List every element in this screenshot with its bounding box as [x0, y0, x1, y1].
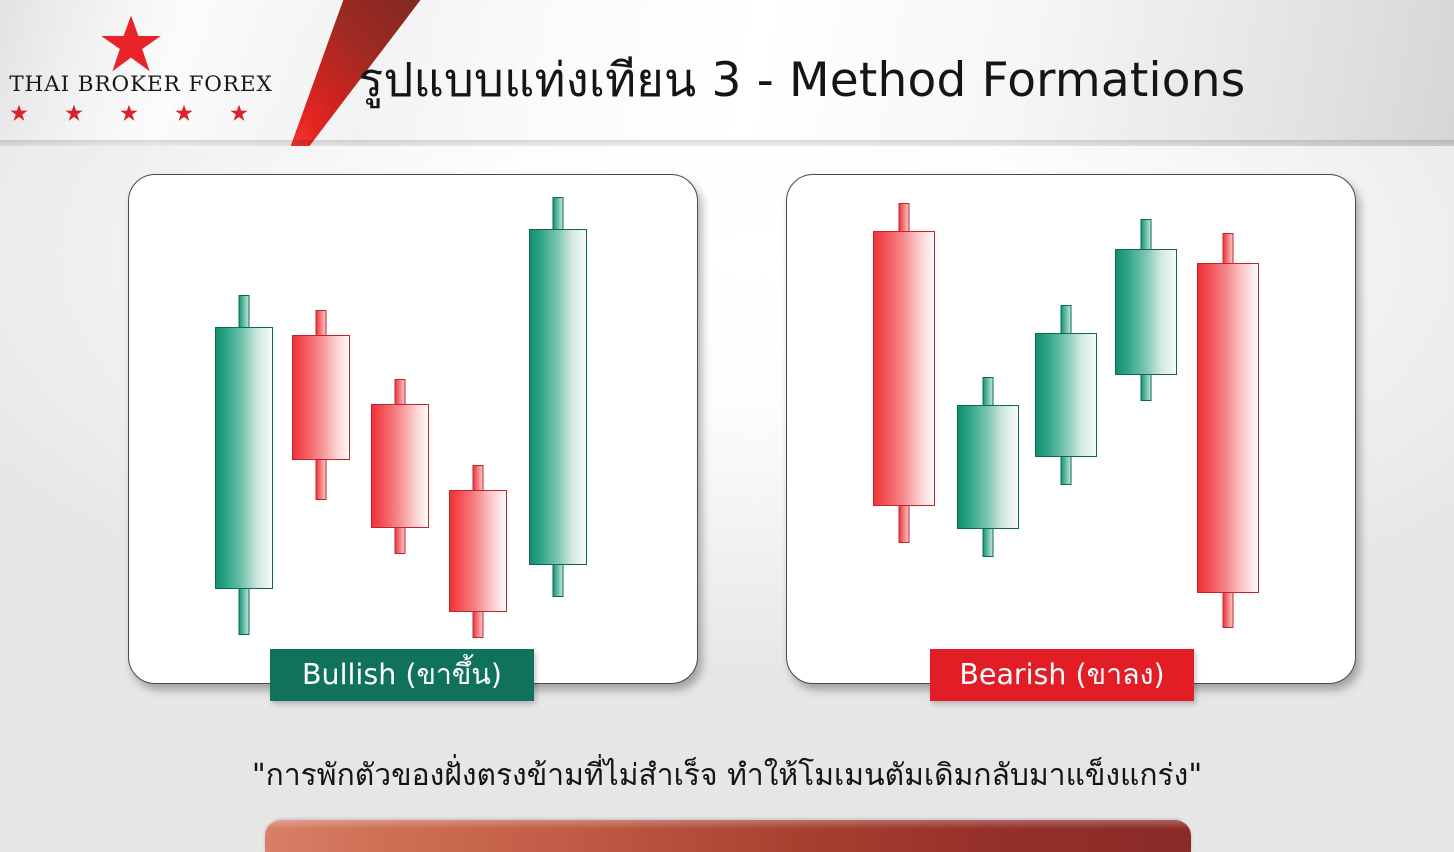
candle-body	[957, 405, 1019, 529]
candle-bear-4	[1115, 219, 1177, 401]
candle-bear-2	[957, 377, 1019, 557]
candle-body	[1115, 249, 1177, 375]
bottom-bar-gloss	[265, 820, 1191, 829]
page-title: รูปแบบแท่งเทียน 3 - Method Formations	[358, 56, 1438, 107]
candle-bull-1	[215, 295, 273, 635]
bottom-accent-bar	[265, 820, 1191, 852]
header-divider-shadow	[0, 140, 1454, 146]
candle-bull-3	[371, 379, 429, 554]
star-icon	[175, 104, 193, 122]
candle-body	[215, 327, 273, 589]
star-icon	[230, 104, 248, 122]
brand-star-row	[10, 104, 280, 122]
candle-bull-5	[529, 197, 587, 597]
candle-body	[371, 404, 429, 528]
candle-body	[529, 229, 587, 565]
bullish-badge: Bullish (ขาขึ้น)	[270, 649, 534, 701]
candle-bear-5	[1197, 233, 1259, 628]
candle-bear-1	[873, 203, 935, 543]
star-icon	[100, 14, 162, 74]
bullish-candlestick-chart	[129, 175, 697, 683]
slide-caption: "การพักตัวของฝั่งตรงข้ามที่ไม่สำเร็จ ทำใ…	[0, 752, 1454, 799]
slide-canvas: THAI BROKER FOREX	[0, 0, 1454, 852]
bearish-chart-panel	[786, 174, 1356, 684]
candle-bear-3	[1035, 305, 1097, 485]
candle-body	[1035, 333, 1097, 457]
star-icon	[10, 104, 28, 122]
bullish-chart-panel	[128, 174, 698, 684]
candle-body	[449, 490, 507, 612]
star-icon	[65, 104, 83, 122]
brand-wordmark: THAI BROKER FOREX	[2, 72, 280, 97]
candle-bull-4	[449, 465, 507, 638]
candle-body	[1197, 263, 1259, 593]
candle-body	[292, 335, 350, 460]
bearish-candlestick-chart	[787, 175, 1355, 683]
candle-bull-2	[292, 310, 350, 500]
candle-body	[873, 231, 935, 506]
star-icon	[120, 104, 138, 122]
bearish-badge: Bearish (ขาลง)	[930, 649, 1194, 701]
